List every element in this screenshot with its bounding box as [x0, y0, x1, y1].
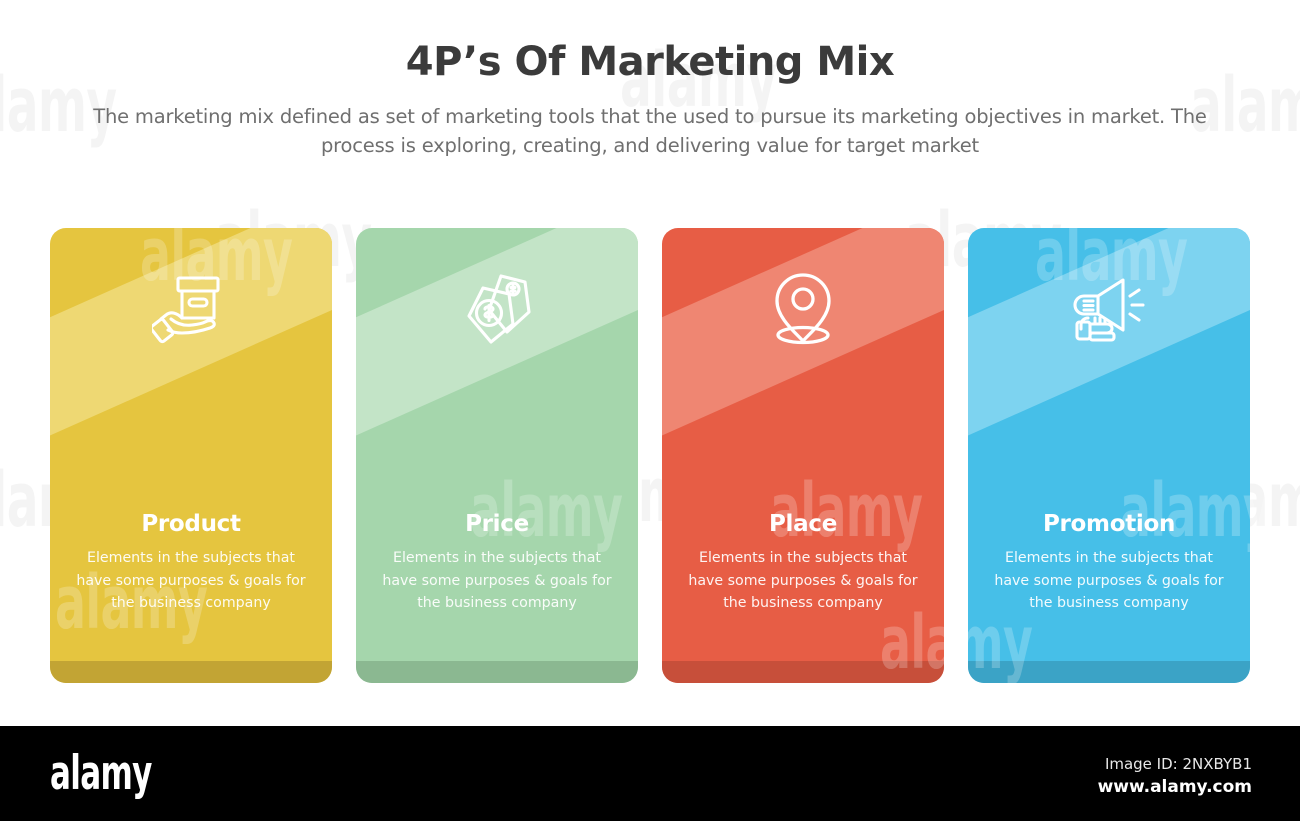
card-promotion[interactable]: Promotion Elements in the subjects that …: [968, 228, 1250, 683]
image-id-label: Image ID: 2NXBYB1: [1098, 754, 1252, 776]
card-body: Place Elements in the subjects that have…: [662, 512, 944, 615]
page-title: 4P’s Of Marketing Mix: [0, 0, 1300, 84]
card-bottom-strip: [662, 661, 944, 683]
cards-container: Product Elements in the subjects that ha…: [50, 228, 1250, 683]
footer-meta: Image ID: 2NXBYB1 www.alamy.com: [1098, 754, 1252, 799]
hand-holding-box-icon: [50, 270, 332, 348]
page-subtitle: The marketing mix defined as set of mark…: [65, 102, 1235, 161]
card-description: Elements in the subjects that have some …: [672, 547, 934, 615]
card-bottom-strip: [50, 661, 332, 683]
card-description: Elements in the subjects that have some …: [366, 547, 628, 615]
alamy-url: www.alamy.com: [1098, 776, 1252, 799]
card-place[interactable]: Place Elements in the subjects that have…: [662, 228, 944, 683]
alamy-logo: alamy: [50, 750, 152, 797]
infographic-canvas: alamyalamyalamyalamyalamyalamyalamyalamy…: [0, 0, 1300, 726]
price-tags-dollar-icon: [356, 270, 638, 348]
card-body: Product Elements in the subjects that ha…: [50, 512, 332, 615]
card-title: Promotion: [978, 512, 1240, 537]
card-description: Elements in the subjects that have some …: [60, 547, 322, 615]
card-bottom-strip: [968, 661, 1250, 683]
card-title: Product: [60, 512, 322, 537]
card-description: Elements in the subjects that have some …: [978, 547, 1240, 615]
map-pin-icon: [662, 270, 944, 348]
alamy-footer-bar: alamy Image ID: 2NXBYB1 www.alamy.com: [0, 726, 1300, 821]
card-bottom-strip: [356, 661, 638, 683]
card-title: Price: [366, 512, 628, 537]
card-body: Promotion Elements in the subjects that …: [968, 512, 1250, 615]
card-price[interactable]: Price Elements in the subjects that have…: [356, 228, 638, 683]
card-title: Place: [672, 512, 934, 537]
header: 4P’s Of Marketing Mix The marketing mix …: [0, 0, 1300, 161]
card-product[interactable]: Product Elements in the subjects that ha…: [50, 228, 332, 683]
card-body: Price Elements in the subjects that have…: [356, 512, 638, 615]
hand-holding-megaphone-icon: [968, 270, 1250, 348]
